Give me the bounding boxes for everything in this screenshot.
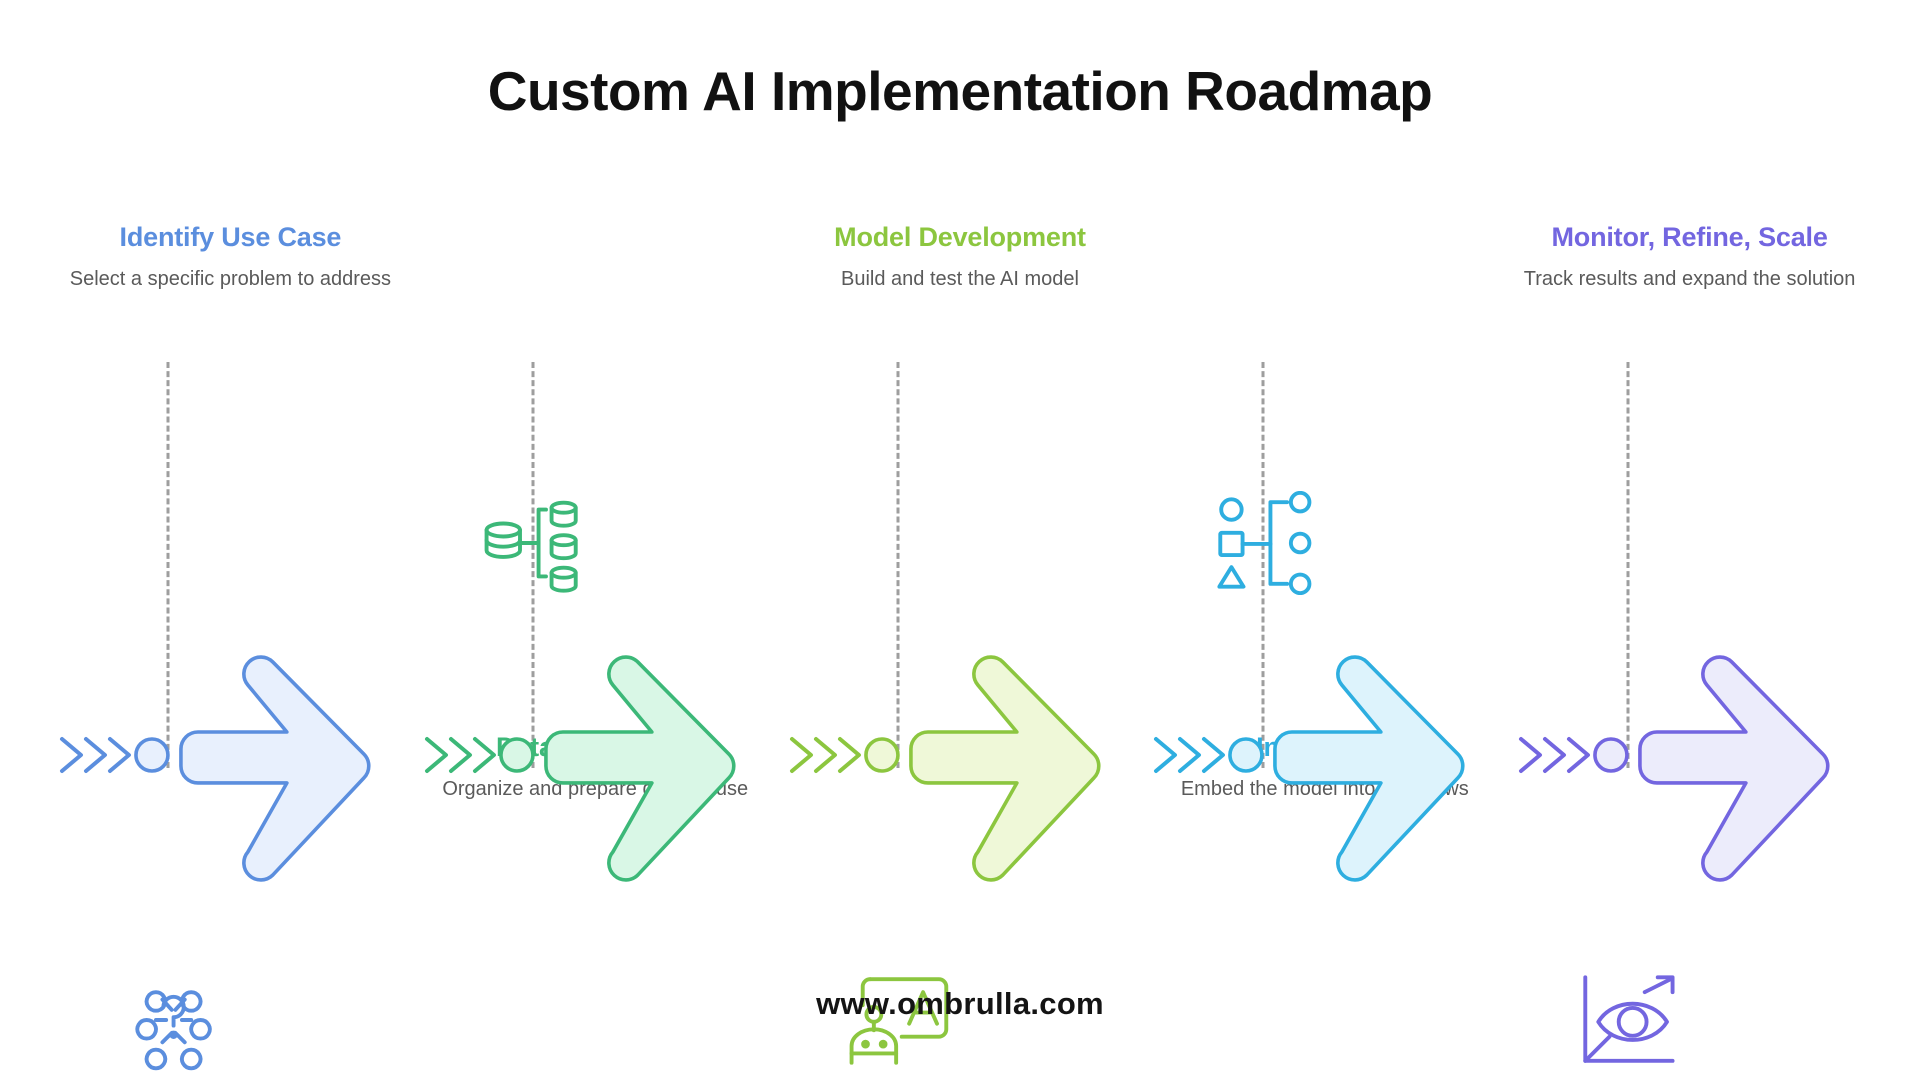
stage-node-dot [1230, 739, 1262, 771]
stage-text-block: Model DevelopmentBuild and test the AI m… [778, 220, 1143, 293]
stage-arrow-indicator [48, 660, 413, 850]
big-arrow [181, 657, 369, 880]
stage-node-dot [501, 739, 533, 771]
stage-description: Build and test the AI model [790, 266, 1131, 293]
stage-text-block: Identify Use CaseSelect a specific probl… [48, 220, 413, 293]
stage-node-dot [866, 739, 898, 771]
chevron-group [792, 739, 859, 771]
stage-title: Monitor, Refine, Scale [1519, 220, 1860, 254]
stage-arrow-indicator [778, 660, 1143, 850]
stage-node-dot [136, 739, 168, 771]
chevron-group [1156, 739, 1223, 771]
roadmap-stage-2: Data ReadinessOrganize and prepare data … [413, 220, 778, 920]
chevron-group [1521, 739, 1588, 771]
stage-title: Model Development [790, 220, 1131, 254]
stage-text-block: Monitor, Refine, ScaleTrack results and … [1507, 220, 1872, 293]
roadmap-stage-4: IntegrationEmbed the model into workflow… [1142, 220, 1507, 920]
stage-arrow-indicator [1507, 660, 1872, 850]
stage-title: Identify Use Case [60, 220, 401, 254]
stage-node-dot [1595, 739, 1627, 771]
page-title: Custom AI Implementation Roadmap [0, 58, 1920, 124]
big-arrow [1275, 657, 1463, 880]
roadmap-stage-3: Model DevelopmentBuild and test the AI m… [778, 220, 1143, 920]
chevron-group [62, 739, 129, 771]
big-arrow [546, 657, 734, 880]
footer-website-url: www.ombrulla.com [0, 986, 1920, 1022]
shapes-merge-icon [1203, 488, 1323, 598]
big-arrow [911, 657, 1099, 880]
roadmap-stage-5: Monitor, Refine, ScaleTrack results and … [1507, 220, 1872, 920]
roadmap-stages: Identify Use CaseSelect a specific probl… [48, 220, 1872, 920]
big-arrow [1640, 657, 1828, 880]
infographic-canvas: Custom AI Implementation Roadmap Identif… [0, 0, 1920, 1080]
stage-description: Track results and expand the solution [1519, 266, 1860, 293]
stage-arrow-indicator [1142, 660, 1507, 850]
stage-description: Select a specific problem to address [60, 266, 401, 293]
roadmap-stage-1: Identify Use CaseSelect a specific probl… [48, 220, 413, 920]
stage-arrow-indicator [413, 660, 778, 850]
database-branch-icon [473, 488, 593, 598]
chevron-group [427, 739, 494, 771]
